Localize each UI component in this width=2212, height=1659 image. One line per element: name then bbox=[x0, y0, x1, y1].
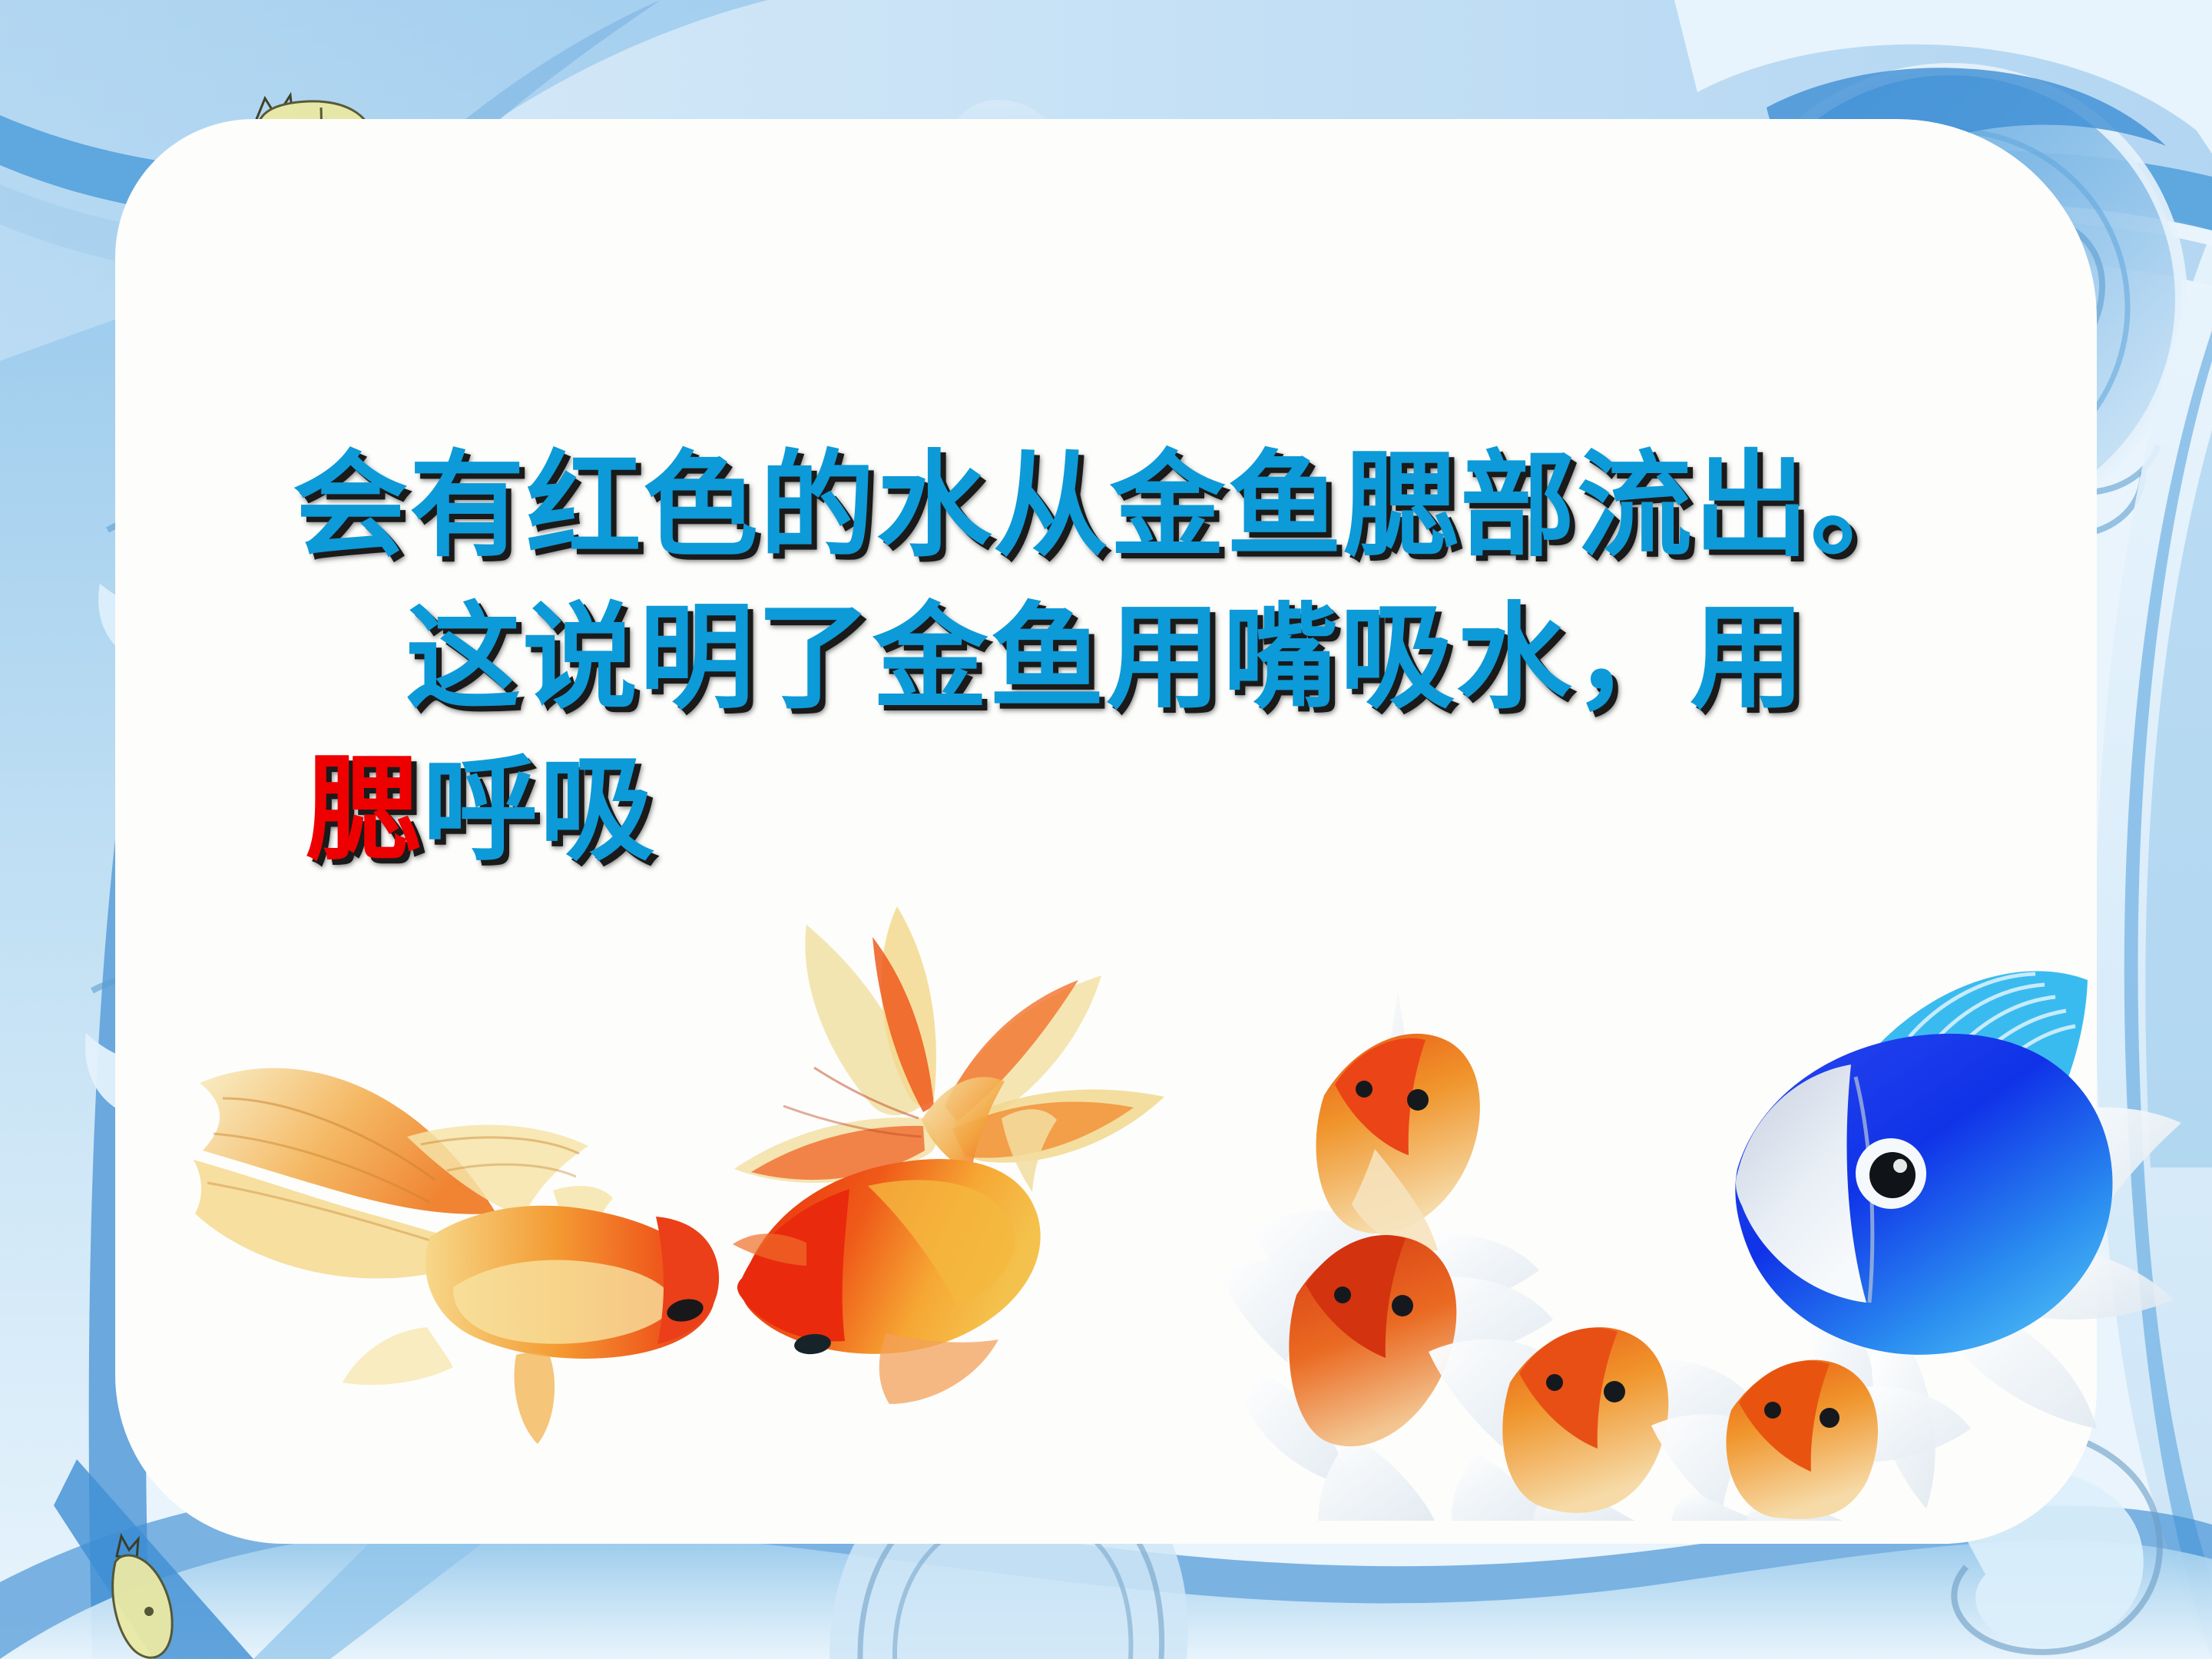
text-line-2: 这说明了金鱼用嘴吸水，用 bbox=[0, 582, 2212, 734]
slide-text-body: 会有红色的水从金鱼腮部流出。 这说明了金鱼用嘴吸水，用 腮呼吸 bbox=[0, 430, 2212, 886]
text-line-3: 腮呼吸 bbox=[0, 734, 2212, 886]
text-line-3-rest: 呼吸 bbox=[422, 743, 656, 877]
highlight-character-gill: 腮 bbox=[306, 743, 422, 877]
presentation-slide: 会有红色的水从金鱼腮部流出。 这说明了金鱼用嘴吸水，用 腮呼吸 bbox=[0, 0, 2212, 1659]
text-line-1: 会有红色的水从金鱼腮部流出。 bbox=[0, 430, 2212, 582]
